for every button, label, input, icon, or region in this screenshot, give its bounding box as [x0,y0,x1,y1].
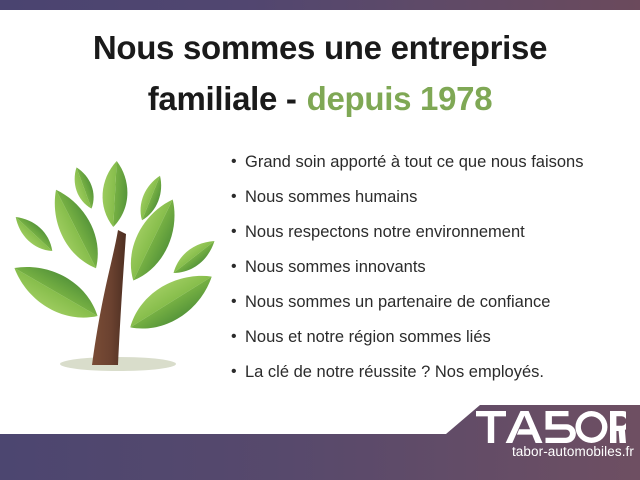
headline-line-2: familiale -depuis 1978 [0,77,640,128]
bullet-icon: • [231,291,245,313]
list-item-label: Grand soin apporté à tout ce que nous fa… [245,151,583,173]
bullet-icon: • [231,326,245,348]
headline-line-1-text: Nous sommes une entreprise [93,29,547,66]
brand-logo[interactable]: tabor-automobiles.fr [476,411,640,459]
list-item-label: Nous sommes un partenaire de confiance [245,291,550,313]
list-item: • Nous respectons notre environnement [231,221,631,256]
list-item: • Nous sommes un partenaire de confiance [231,291,631,326]
list-item-label: Nous respectons notre environnement [245,221,525,243]
tree-svg [14,152,219,387]
top-accent-bar [0,0,640,10]
headline-line-2-dark-text: familiale - [148,80,297,117]
headline-line-1: Nous sommes une entreprise [0,26,640,77]
slide-canvas: Nous sommes une entreprise familiale -de… [0,0,640,480]
list-item-label: Nous et notre région sommes liés [245,326,491,348]
list-item: • Nous sommes humains [231,186,631,221]
bullet-icon: • [231,186,245,208]
brand-url[interactable]: tabor-automobiles.fr [476,444,640,459]
list-item: • La clé de notre réussite ? Nos employé… [231,361,631,396]
leaf-far-left-small [14,211,58,258]
bullet-icon: • [231,361,245,383]
list-item-label: Nous sommes humains [245,186,417,208]
leaf-mid-left-large [42,183,109,275]
list-item: • Grand soin apporté à tout ce que nous … [231,151,631,186]
bullet-icon: • [231,151,245,173]
bullet-icon: • [231,221,245,243]
benefits-list: • Grand soin apporté à tout ce que nous … [231,151,631,396]
bullet-icon: • [231,256,245,278]
list-item: • Nous et notre région sommes liés [231,326,631,361]
footer-bar: tabor-automobiles.fr [0,398,640,480]
list-item-label: La clé de notre réussite ? Nos employés. [245,361,544,383]
headline-line-2-green-text: depuis 1978 [307,80,493,117]
page-title: Nous sommes une entreprise familiale -de… [0,26,640,128]
list-item: • Nous sommes innovants [231,256,631,291]
leaf-far-right-small [168,234,219,280]
tree-illustration [14,152,219,387]
leaf-top-center [101,160,129,227]
tabor-wordmark-icon [476,411,626,443]
list-item-label: Nous sommes innovants [245,256,426,278]
